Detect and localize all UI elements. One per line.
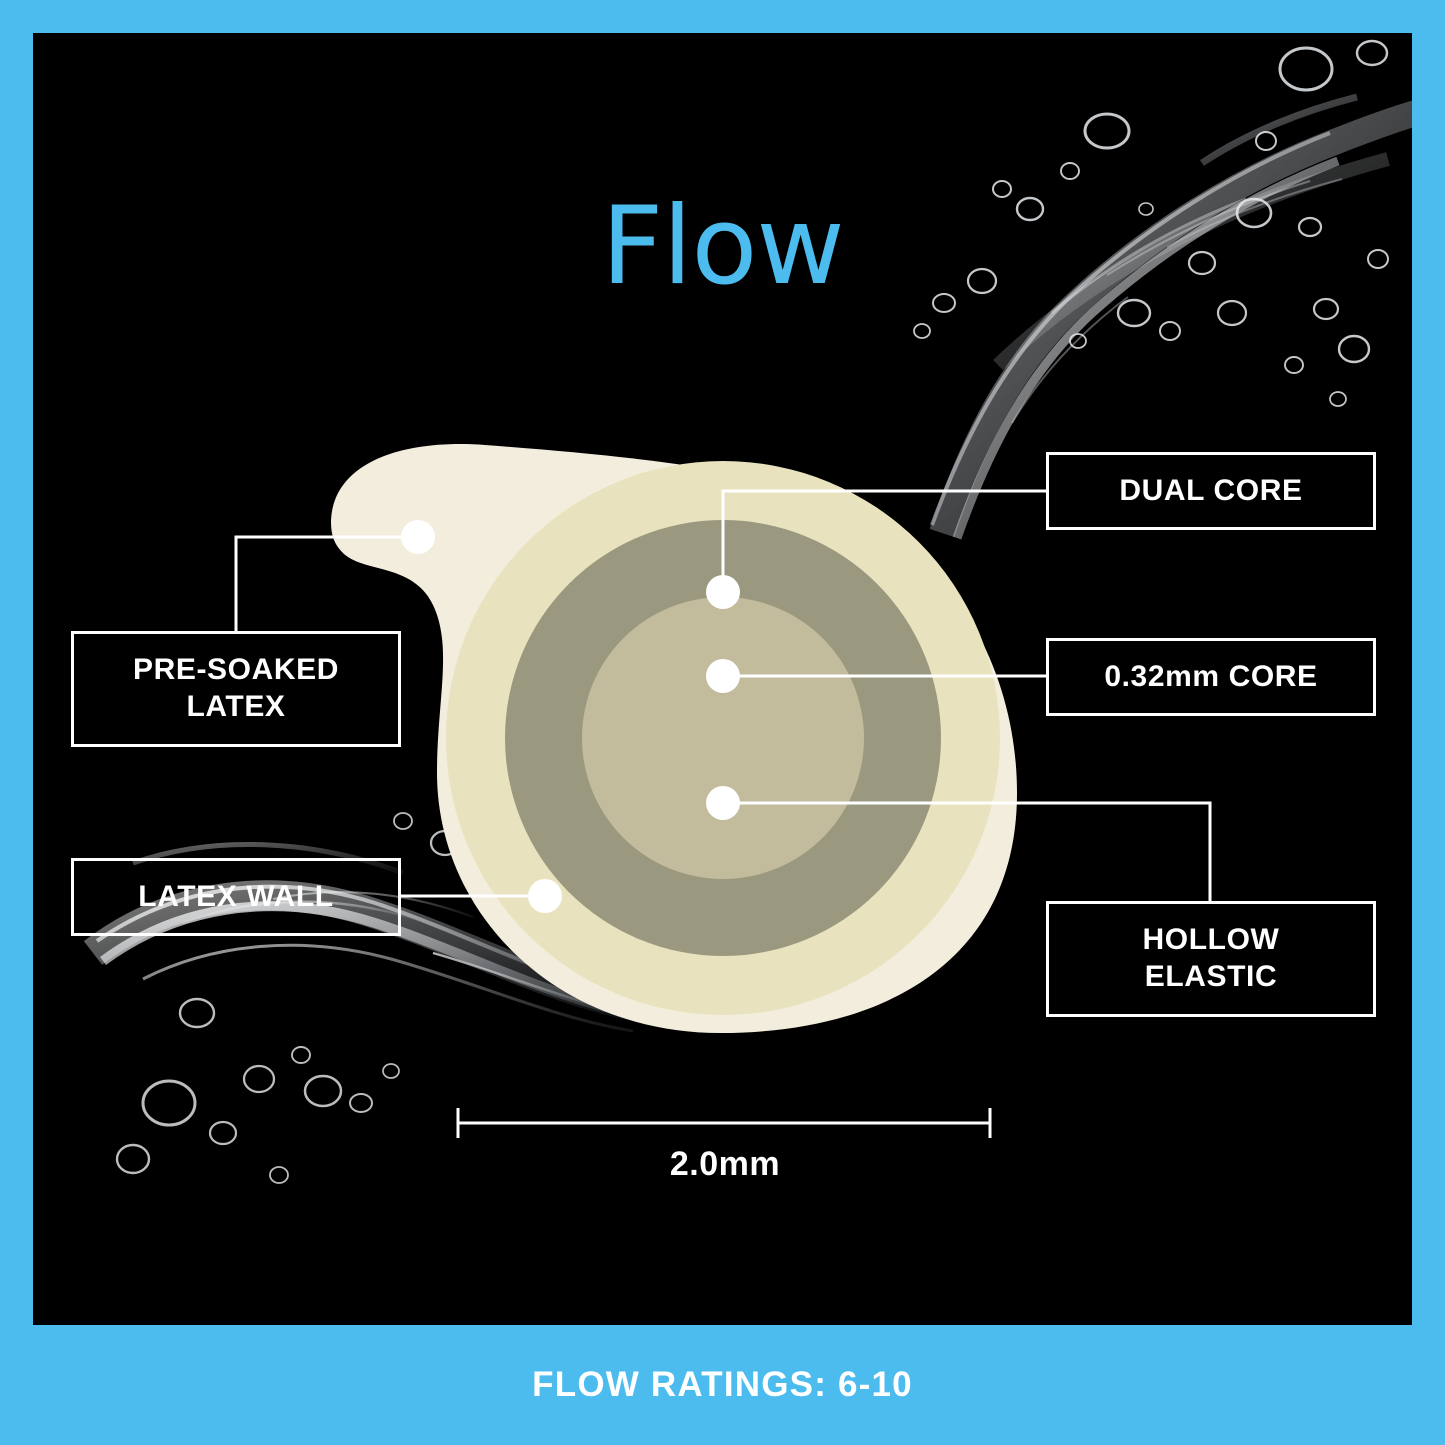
- measurement-caption: 2.0mm: [455, 1145, 995, 1184]
- callout-latex-wall[interactable]: LATEX WALL: [71, 858, 401, 936]
- callout-line-2: LATEX: [186, 690, 285, 723]
- callout-label-text: DUAL CORE: [1119, 473, 1302, 510]
- anchor-dot-dual-core: [706, 575, 740, 609]
- flow-ratings-text: FLOW RATINGS: 6-10: [532, 1365, 913, 1405]
- flow-ratings-banner: FLOW RATINGS: 6-10: [0, 1325, 1445, 1445]
- callout-dual-core[interactable]: DUAL CORE: [1046, 452, 1376, 530]
- callout-label-text: HOLLOW ELASTIC: [1143, 922, 1280, 995]
- callout-line-1: HOLLOW: [1143, 923, 1280, 956]
- callout-label-text: PRE-SOAKED LATEX: [133, 652, 339, 725]
- callout-hollow-elastic[interactable]: HOLLOW ELASTIC: [1046, 901, 1376, 1017]
- layer-inner-core: [582, 597, 864, 879]
- callout-line-1: PRE-SOAKED: [133, 653, 339, 686]
- anchor-dot-hollow-elastic: [706, 786, 740, 820]
- anchor-dot-latex-wall: [528, 879, 562, 913]
- callout-core-thickness[interactable]: 0.32mm CORE: [1046, 638, 1376, 716]
- anchor-dot-core-thickness: [706, 659, 740, 693]
- callout-pre-soaked-latex[interactable]: PRE-SOAKED LATEX: [71, 631, 401, 747]
- anchor-dot-pre-soaked-latex: [401, 520, 435, 554]
- callout-line-2: ELASTIC: [1145, 960, 1278, 993]
- poster-root: Flow: [0, 0, 1445, 1445]
- callout-label-text: LATEX WALL: [138, 879, 333, 916]
- callout-label-text: 0.32mm CORE: [1104, 659, 1317, 696]
